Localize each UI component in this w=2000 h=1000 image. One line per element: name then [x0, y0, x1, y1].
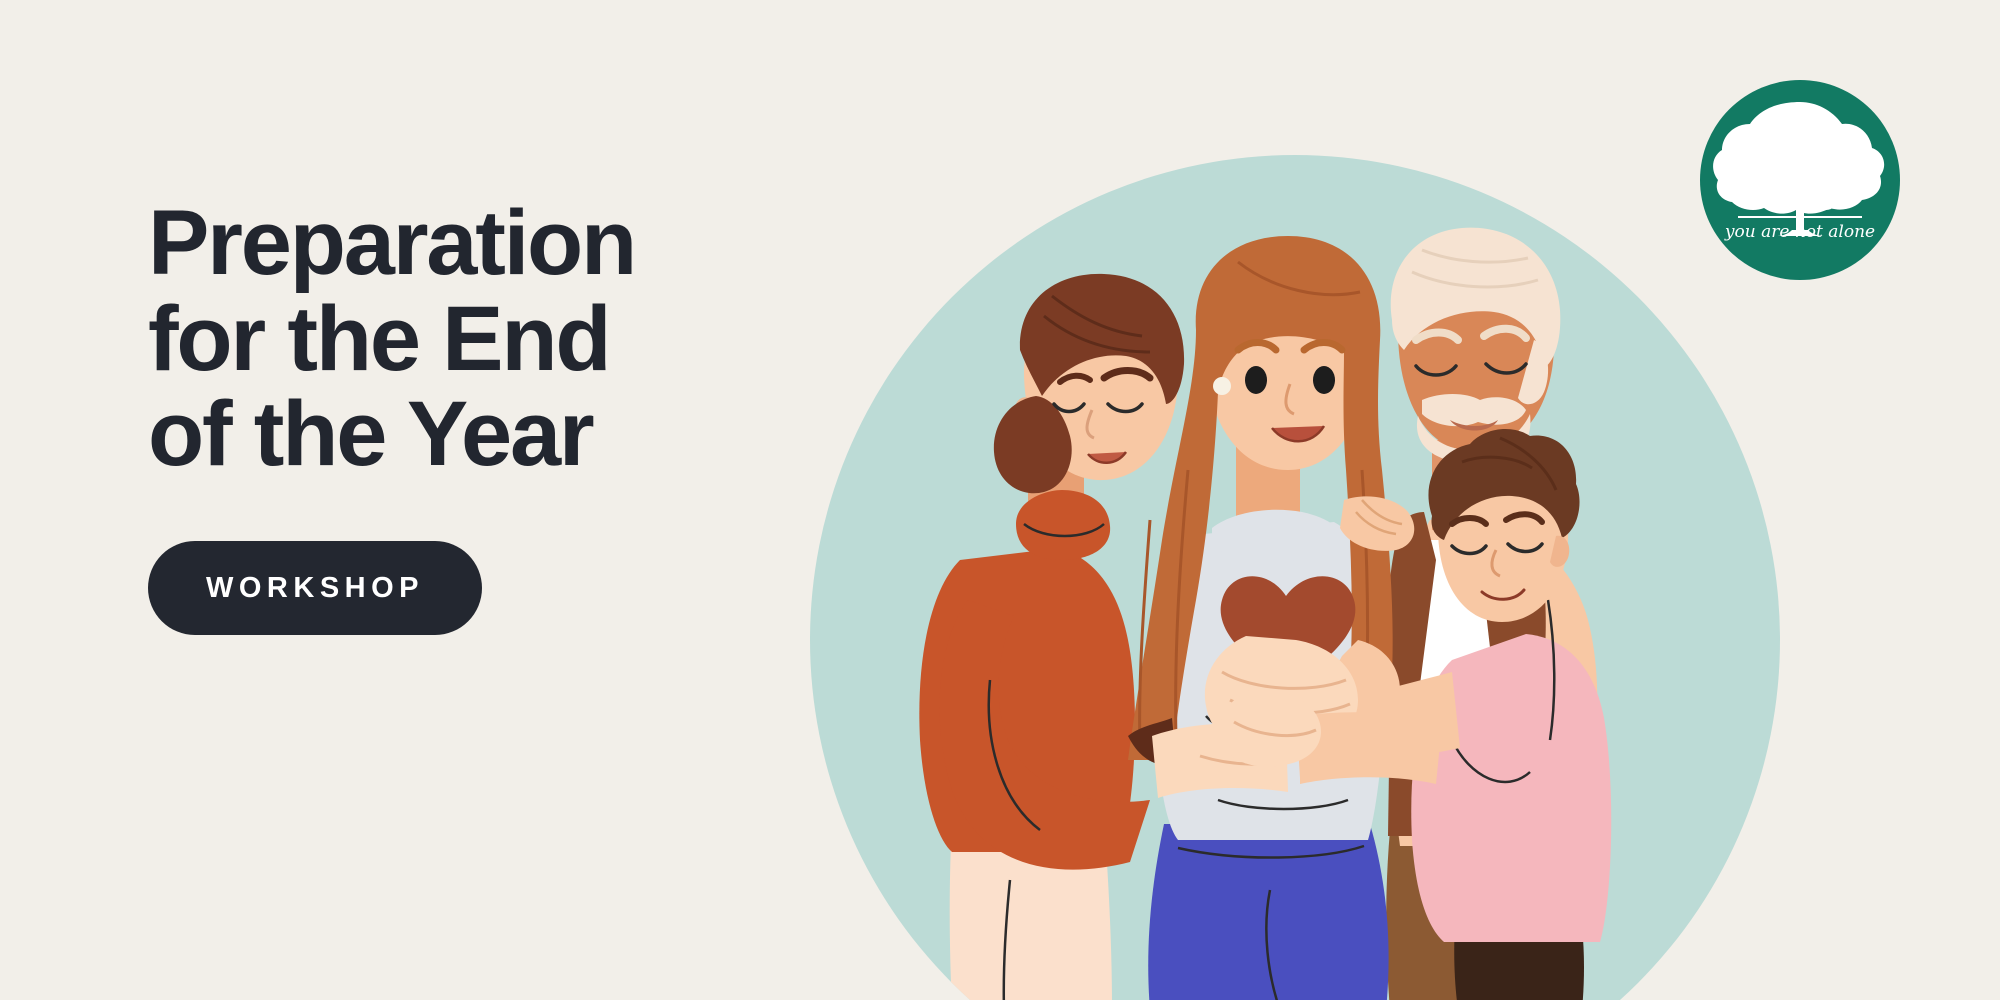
- logo-rule-bottom: [1738, 216, 1862, 218]
- title-line-2: for the End: [148, 292, 808, 388]
- workshop-badge-label: WORKSHOP: [206, 572, 424, 605]
- title-line-1: Preparation: [148, 196, 808, 292]
- tree-icon: [1700, 80, 1900, 280]
- headline-block: Preparation for the End of the Year WORK…: [148, 196, 808, 635]
- logo-tagline: you are not alone: [1700, 222, 1900, 242]
- page-title: Preparation for the End of the Year: [148, 196, 808, 483]
- arafmi-logo[interactable]: ARAFMI you are not alone: [1700, 80, 1900, 280]
- logo-brand: ARAFMI: [1700, 192, 1900, 212]
- logo-rule-top: [1738, 186, 1862, 188]
- workshop-badge[interactable]: WORKSHOP: [148, 541, 482, 635]
- event-banner: Preparation for the End of the Year WORK…: [0, 0, 2000, 1000]
- title-line-3: of the Year: [148, 387, 808, 483]
